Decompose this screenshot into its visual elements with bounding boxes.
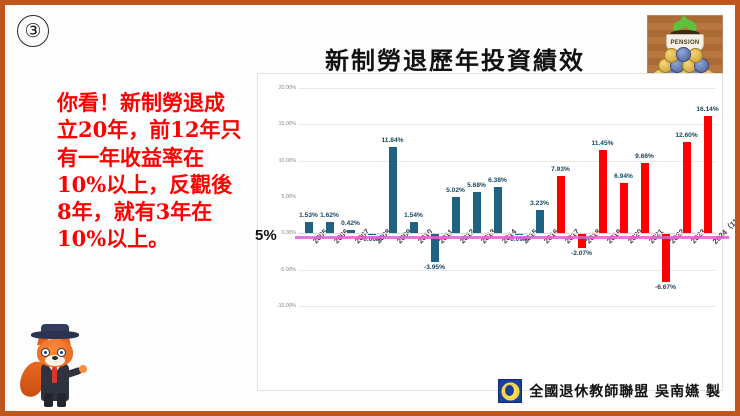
organization-logo-icon (498, 379, 522, 403)
y-axis-tick-label: -10.00% (262, 303, 296, 309)
chart-panel: 20.00%15.00%10.00%5.00%0.00%-5.00%-10.00… (257, 73, 723, 391)
bar-value-label: -6.67% (655, 284, 676, 291)
chart-bar (683, 142, 691, 234)
bar-value-label: 12.60% (675, 132, 697, 139)
chart-bar (410, 222, 418, 233)
page-title: 新制勞退歷年投資績效 (325, 41, 585, 76)
bar-value-label: 6.94% (614, 173, 633, 180)
grid-line (298, 270, 716, 271)
chart-bar (473, 192, 481, 233)
bar-value-label: 1.54% (404, 212, 423, 219)
y-axis-tick-label: 10.00% (262, 158, 296, 164)
chart-bar (641, 163, 649, 233)
bar-value-label: 11.45% (592, 140, 614, 147)
grid-line (298, 88, 716, 89)
grid-line (298, 306, 716, 307)
grid-line (298, 161, 716, 162)
footer: 全國退休教師聯盟 吳南嬿 製 (498, 379, 721, 403)
bar-value-label: 9.66% (635, 153, 654, 160)
slide-number-badge: ③ (17, 15, 49, 47)
chart-plot-area: 20.00%15.00%10.00%5.00%0.00%-5.00%-10.00… (258, 74, 722, 390)
bar-value-label: 3.23% (530, 200, 549, 207)
bar-value-label: 1.62% (320, 212, 339, 219)
bar-value-label: 11.84% (382, 137, 404, 144)
chart-bar (389, 147, 397, 233)
bar-value-label: 1.53% (299, 212, 318, 219)
chart-bar (620, 183, 628, 233)
reference-line-label: 5% (255, 227, 277, 244)
bar-value-label: 7.93% (551, 166, 570, 173)
chart-bar (662, 233, 670, 281)
bar-value-label: 0.42% (341, 220, 360, 227)
y-axis-tick-label: 5.00% (262, 194, 296, 200)
bar-value-label: -3.95% (424, 264, 445, 271)
chart-bar (536, 210, 544, 233)
chart-bar (326, 222, 334, 234)
y-axis-tick-label: -5.00% (262, 267, 296, 273)
bar-value-label: 5.68% (467, 182, 486, 189)
chart-bar (704, 116, 712, 233)
x-axis-tick-label: 2024（11月） (710, 206, 740, 248)
y-axis-tick-label: 20.00% (262, 85, 296, 91)
zero-baseline (298, 233, 716, 234)
callout-text: 你看！新制勞退成立20年，前12年只有一年收益率在10%以上，反觀後8年，就有3… (57, 89, 243, 253)
bar-value-label: 5.02% (446, 187, 465, 194)
chart-bar (557, 176, 565, 234)
fox-mascot-icon (19, 327, 91, 409)
grid-line (298, 124, 716, 125)
slide-root: ③ 新制勞退歷年投資績效 PENSION 你看！新制勞退成立20年，前12年只有… (0, 0, 740, 416)
bar-value-label: 6.38% (488, 177, 507, 184)
chart-bar (599, 150, 607, 233)
chart-bar (452, 197, 460, 233)
bar-value-label: -2.07% (571, 250, 592, 257)
bar-value-label: 16.14% (696, 106, 718, 113)
y-axis-tick-label: 15.00% (262, 121, 296, 127)
reference-line-5pct (295, 236, 729, 239)
chart-bar (494, 187, 502, 233)
footer-credit: 全國退休教師聯盟 吳南嬿 製 (529, 381, 721, 401)
chart-bar (305, 222, 313, 233)
